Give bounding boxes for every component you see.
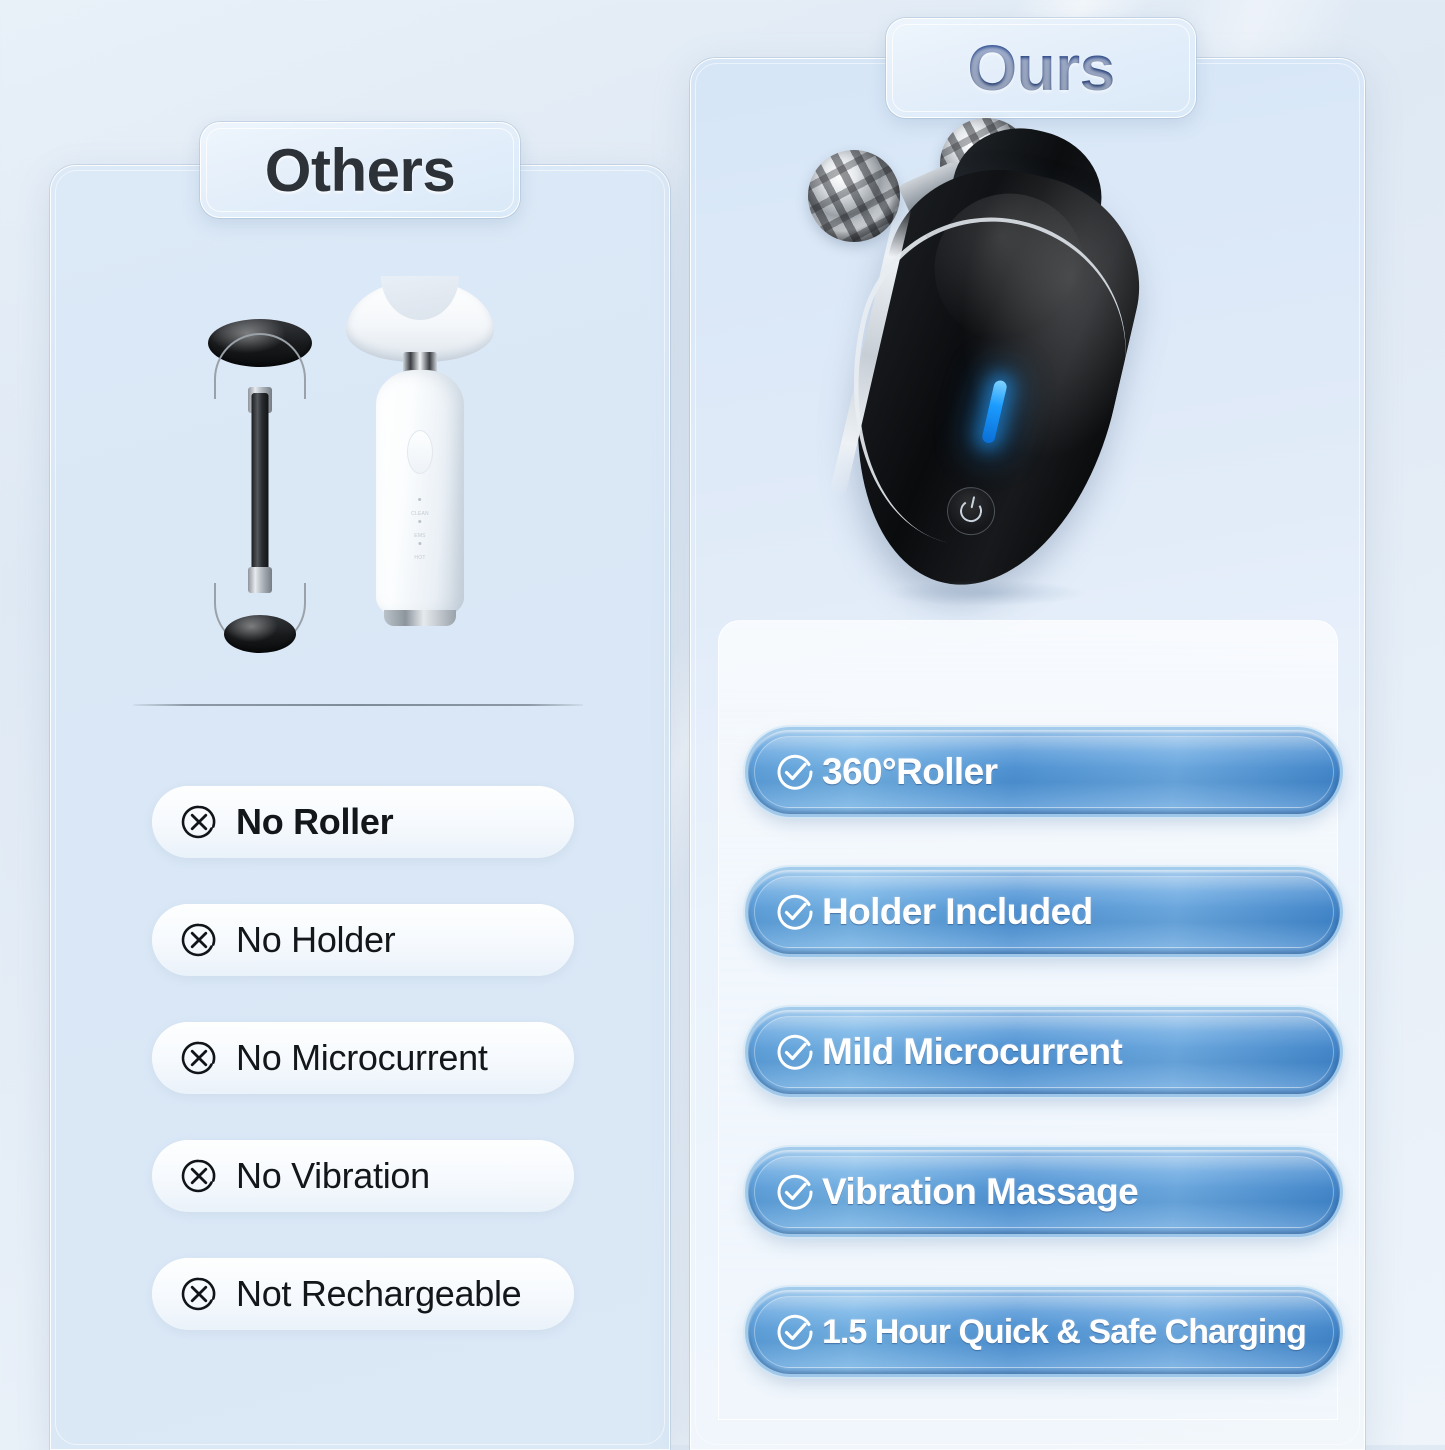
- black-microcurrent-device: [790, 110, 1190, 610]
- others-feature-label: No Vibration: [236, 1155, 430, 1197]
- ours-feature-vibration-massage: Vibration Massage: [748, 1150, 1340, 1234]
- others-divider: [133, 704, 583, 706]
- others-feature-label: No Microcurrent: [236, 1037, 488, 1079]
- ours-badge-label: Ours: [967, 31, 1114, 105]
- device-drop-shadow: [886, 580, 1086, 606]
- neck-device-mode-3: HOT: [414, 542, 425, 564]
- circle-check-icon: [772, 749, 818, 795]
- circle-x-icon: [178, 1037, 220, 1079]
- neck-device-image: CLEAN EMS HOT: [340, 270, 500, 655]
- ours-feature-label: 1.5 Hour Quick & Safe Charging: [822, 1313, 1306, 1352]
- others-feature-no-holder: No Holder: [152, 904, 574, 976]
- neck-device-base: [384, 610, 456, 626]
- others-badge: Others: [200, 122, 520, 218]
- circle-x-icon: [178, 919, 220, 961]
- others-product-images: CLEAN EMS HOT: [180, 270, 540, 660]
- neck-device-button: [407, 430, 433, 474]
- comparison-infographic: Others CLEAN EMS HOT: [0, 0, 1445, 1445]
- neck-device-mode-1: CLEAN: [411, 498, 429, 520]
- circle-check-icon: [772, 1169, 818, 1215]
- roller-stone-bottom: [224, 615, 296, 653]
- ours-feature-label: Holder Included: [822, 891, 1093, 933]
- others-feature-label: Not Rechargeable: [236, 1273, 521, 1315]
- ours-feature-360-roller: 360°Roller: [748, 730, 1340, 814]
- circle-check-icon: [772, 889, 818, 935]
- ours-feature-list: 360°Roller Holder Included Mild Microcur…: [748, 730, 1340, 1374]
- neck-device-head: [346, 280, 494, 362]
- others-feature-no-vibration: No Vibration: [152, 1140, 574, 1212]
- jade-roller-image: [205, 315, 315, 645]
- others-feature-label: No Roller: [236, 801, 393, 843]
- others-feature-label: No Holder: [236, 919, 395, 961]
- circle-x-icon: [178, 801, 220, 843]
- others-feature-list: No Roller No Holder No Microcurrent: [152, 786, 574, 1330]
- ours-product-image: [790, 110, 1190, 610]
- circle-check-icon: [772, 1029, 818, 1075]
- others-feature-no-roller: No Roller: [152, 786, 574, 858]
- ours-feature-label: Vibration Massage: [822, 1171, 1138, 1213]
- others-badge-label: Others: [265, 136, 455, 205]
- ours-feature-quick-safe-charging: 1.5 Hour Quick & Safe Charging: [748, 1290, 1340, 1374]
- ours-feature-mild-microcurrent: Mild Microcurrent: [748, 1010, 1340, 1094]
- others-feature-not-rechargeable: Not Rechargeable: [152, 1258, 574, 1330]
- others-feature-no-microcurrent: No Microcurrent: [152, 1022, 574, 1094]
- neck-device-mode-2: EMS: [414, 520, 425, 542]
- neck-device-body: [376, 370, 464, 620]
- circle-x-icon: [178, 1155, 220, 1197]
- ours-feature-holder-included: Holder Included: [748, 870, 1340, 954]
- circle-x-icon: [178, 1273, 220, 1315]
- ours-badge: Ours: [886, 18, 1196, 118]
- roller-handle: [252, 393, 269, 581]
- circle-check-icon: [772, 1309, 818, 1355]
- ours-feature-label: 360°Roller: [822, 751, 997, 793]
- ours-feature-label: Mild Microcurrent: [822, 1031, 1122, 1073]
